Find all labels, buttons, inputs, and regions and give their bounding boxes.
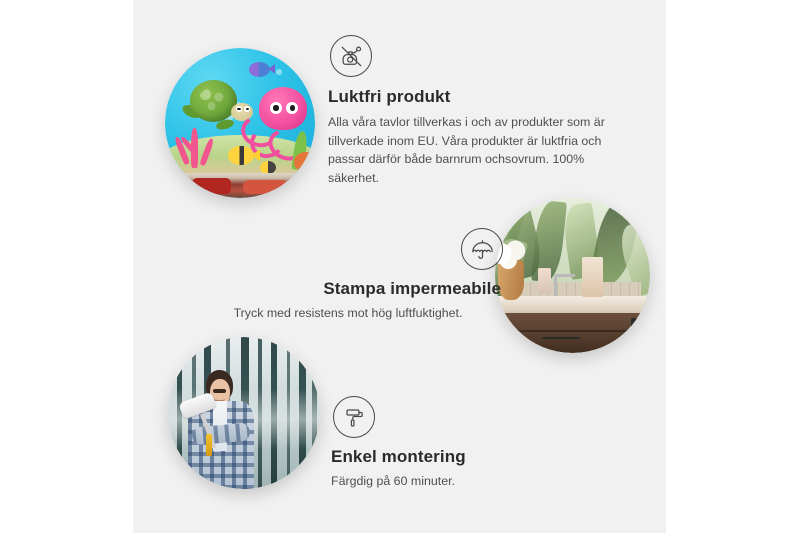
feature-title: Enkel montering [331, 446, 581, 467]
content-panel: Luktfri produkt Alla våra tavlor tillver… [133, 0, 666, 533]
feature-title: Luktfri produkt [328, 86, 618, 107]
bubble-icon [276, 69, 282, 75]
no-fragrance-icon [330, 35, 372, 77]
coral-branch [199, 138, 214, 166]
yellow-fish-icon [228, 146, 254, 166]
feature-easy-mounting: Enkel montering Färgdig på 60 minuter. [331, 396, 581, 491]
person-eyes [213, 389, 226, 393]
drawer-handle [542, 337, 580, 339]
faucet-icon [554, 274, 576, 296]
feature-odour-free: Luktfri produkt Alla våra tavlor tillver… [328, 35, 618, 188]
product-photo-bathroom[interactable] [495, 198, 650, 353]
candle-decor [538, 268, 550, 294]
product-photo-painter[interactable] [168, 337, 320, 489]
turtle-shell [190, 80, 238, 122]
room-preview-strip [165, 173, 315, 199]
feature-waterproof-print: Stampa impermeabile Tryck med resistens … [193, 228, 503, 323]
feature-description: Alla våra tavlor tillverkas i och av pro… [328, 113, 618, 187]
turtle-illustration [185, 78, 251, 132]
product-photo-bathroom-image [495, 198, 650, 353]
crab-illustration [294, 152, 315, 172]
turtle-eye [236, 106, 243, 112]
purple-fish-icon [249, 62, 270, 77]
umbrella-icon [461, 228, 503, 270]
paint-roller-icon [333, 396, 375, 438]
screenshot-root: Luktfri produkt Alla våra tavlor tillver… [0, 0, 800, 533]
octopus-eye [286, 102, 298, 115]
towel-decor [582, 257, 604, 297]
feature-description: Färgdig på 60 minuter. [331, 472, 581, 491]
cabinet-handle [631, 318, 637, 348]
octopus-head [259, 87, 307, 130]
product-photo-painter-image [168, 337, 320, 489]
vanity-divider [501, 330, 650, 332]
coral-illustration [174, 126, 219, 168]
octopus-eye [270, 102, 282, 115]
hand-tool-prop [206, 434, 212, 455]
feature-description: Tryck med resistens mot hög luftfuktighe… [193, 304, 503, 323]
product-photo-ocean-image [165, 48, 315, 198]
painter-person [183, 370, 271, 489]
product-photo-ocean[interactable] [165, 48, 315, 198]
bathroom-vanity [501, 313, 650, 353]
feature-title: Stampa impermeabile [193, 278, 503, 299]
